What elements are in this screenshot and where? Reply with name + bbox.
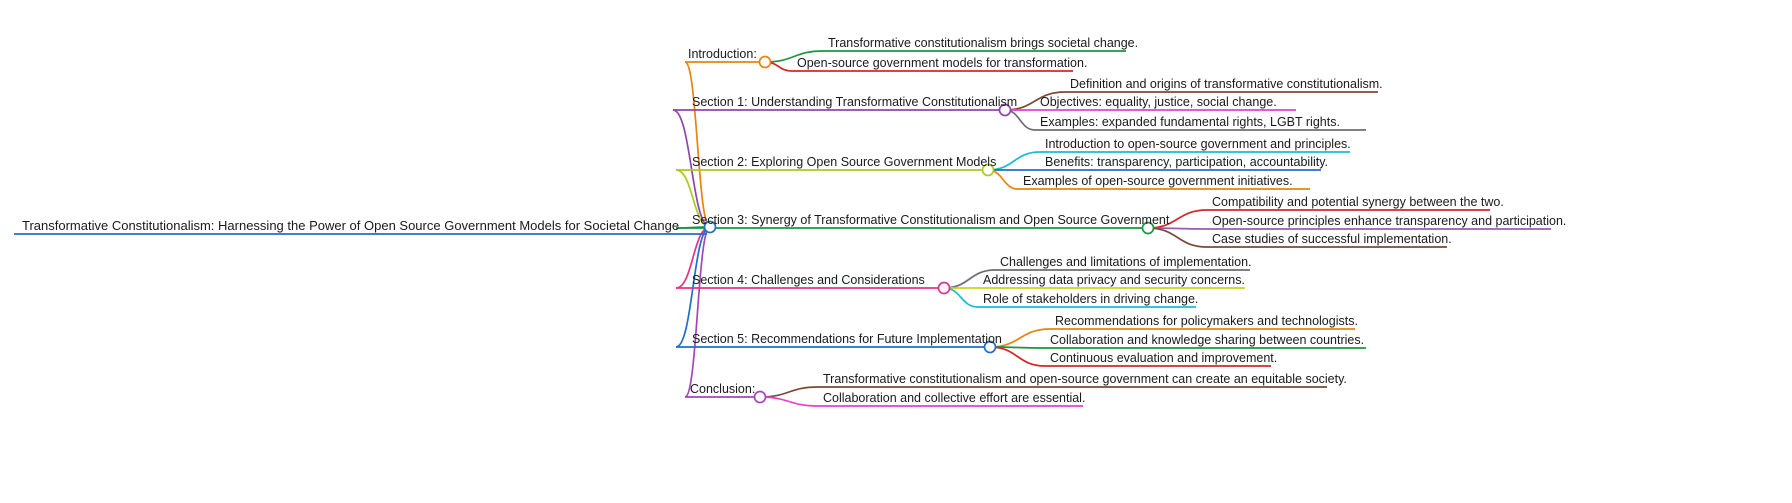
branch-label: Section 3: Synergy of Transformative Con… <box>692 213 1170 227</box>
branch-label: Section 1: Understanding Transformative … <box>692 95 1017 109</box>
branch-node-dot[interactable] <box>939 283 950 294</box>
leaf-edge <box>990 347 1045 366</box>
leaf-label: Challenges and limitations of implementa… <box>1000 255 1252 269</box>
leaf-label: Open-source government models for transf… <box>797 56 1087 70</box>
mindmap-svg: Transformative Constitutionalism: Harnes… <box>0 0 1792 503</box>
leaf-edge <box>1148 228 1207 247</box>
leaf-label: Examples: expanded fundamental rights, L… <box>1040 115 1340 129</box>
branch-node-dot[interactable] <box>760 57 771 68</box>
leaf-label: Collaboration and knowledge sharing betw… <box>1050 333 1364 347</box>
mindmap-canvas: Transformative Constitutionalism: Harnes… <box>0 0 1792 503</box>
branch-label: Section 5: Recommendations for Future Im… <box>692 332 1002 346</box>
leaf-label: Case studies of successful implementatio… <box>1212 232 1452 246</box>
leaf-label: Objectives: equality, justice, social ch… <box>1040 95 1277 109</box>
leaf-label: Recommendations for policymakers and tec… <box>1055 314 1358 328</box>
branch-label: Introduction: <box>688 47 757 61</box>
leaf-label: Addressing data privacy and security con… <box>983 273 1245 287</box>
leaf-label: Continuous evaluation and improvement. <box>1050 351 1277 365</box>
leaf-label: Role of stakeholders in driving change. <box>983 292 1198 306</box>
branch-label: Conclusion: <box>690 382 755 396</box>
branch-edge <box>676 227 710 347</box>
root-node-label: Transformative Constitutionalism: Harnes… <box>22 218 679 233</box>
branch-label: Section 2: Exploring Open Source Governm… <box>692 155 996 169</box>
leaf-label: Transformative constitutionalism brings … <box>828 36 1138 50</box>
branch-label: Section 4: Challenges and Considerations <box>692 273 925 287</box>
leaf-label: Open-source principles enhance transpare… <box>1212 214 1566 228</box>
leaf-label: Benefits: transparency, participation, a… <box>1045 155 1328 169</box>
leaf-label: Transformative constitutionalism and ope… <box>823 372 1347 386</box>
leaf-label: Introduction to open-source government a… <box>1045 137 1351 151</box>
leaf-label: Collaboration and collective effort are … <box>823 391 1085 405</box>
leaf-label: Compatibility and potential synergy betw… <box>1212 195 1504 209</box>
leaf-label: Definition and origins of transformative… <box>1070 77 1383 91</box>
branch-node-dot[interactable] <box>755 392 766 403</box>
leaf-edge <box>760 397 818 406</box>
leaf-label: Examples of open-source government initi… <box>1023 174 1293 188</box>
leaf-edge <box>760 387 818 397</box>
